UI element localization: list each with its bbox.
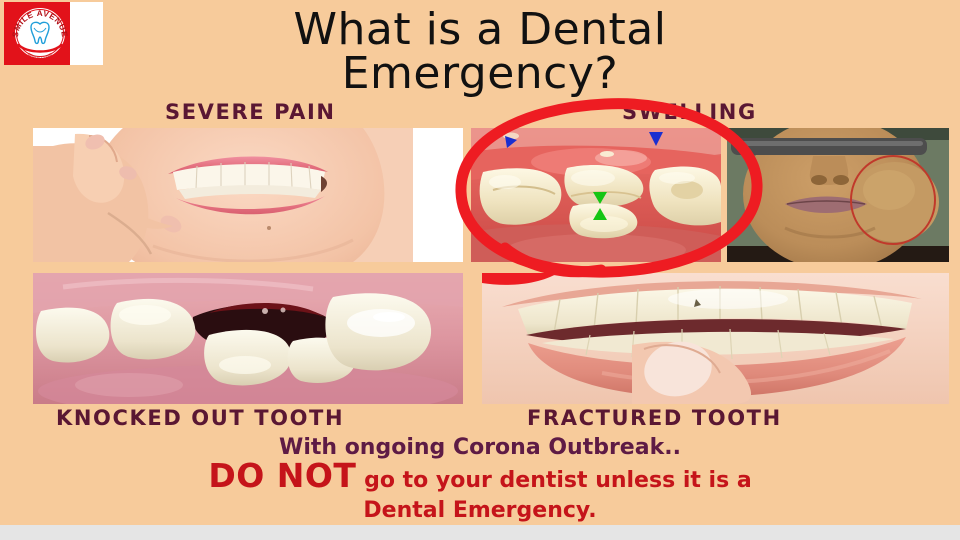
caption-swelling: SWELLING <box>622 100 757 124</box>
photo-graphic <box>482 273 949 404</box>
caption-fractured-tooth: FRACTURED TOOTH <box>527 406 782 430</box>
photo-graphic <box>471 128 721 262</box>
caption-severe-pain: SEVERE PAIN <box>165 100 336 124</box>
message-line-3: Dental Emergency. <box>0 496 960 525</box>
photo-graphic <box>33 128 463 262</box>
caption-knocked-out-tooth: KNOCKED OUT TOOTH <box>56 406 344 430</box>
missing-tooth-socket-photo <box>33 273 463 404</box>
bottom-letterbox-strip <box>0 525 960 540</box>
message-line-2-rest: go to your dentist unless it is a <box>356 468 751 493</box>
warning-message: With ongoing Corona Outbreak.. DO NOT go… <box>0 434 960 525</box>
photo-graphic <box>727 128 949 262</box>
poster-canvas: SMILE AVENUE DENTAL CLINIC What is a Den… <box>0 0 960 525</box>
photo-graphic <box>33 273 463 404</box>
woman-holding-cheek-in-pain-photo <box>33 128 463 262</box>
page-title: What is a Dental Emergency? <box>0 8 960 96</box>
message-emphasis-do-not: DO NOT <box>208 456 356 495</box>
swollen-gums-closeup-photo <box>471 128 721 262</box>
title-line-2: Emergency? <box>0 52 960 96</box>
message-line-2: DO NOT go to your dentist unless it is a <box>0 461 960 496</box>
fractured-tooth-smile-photo <box>482 273 949 404</box>
swollen-cheek-face-photo <box>727 128 949 262</box>
message-line-1: With ongoing Corona Outbreak.. <box>0 434 960 461</box>
